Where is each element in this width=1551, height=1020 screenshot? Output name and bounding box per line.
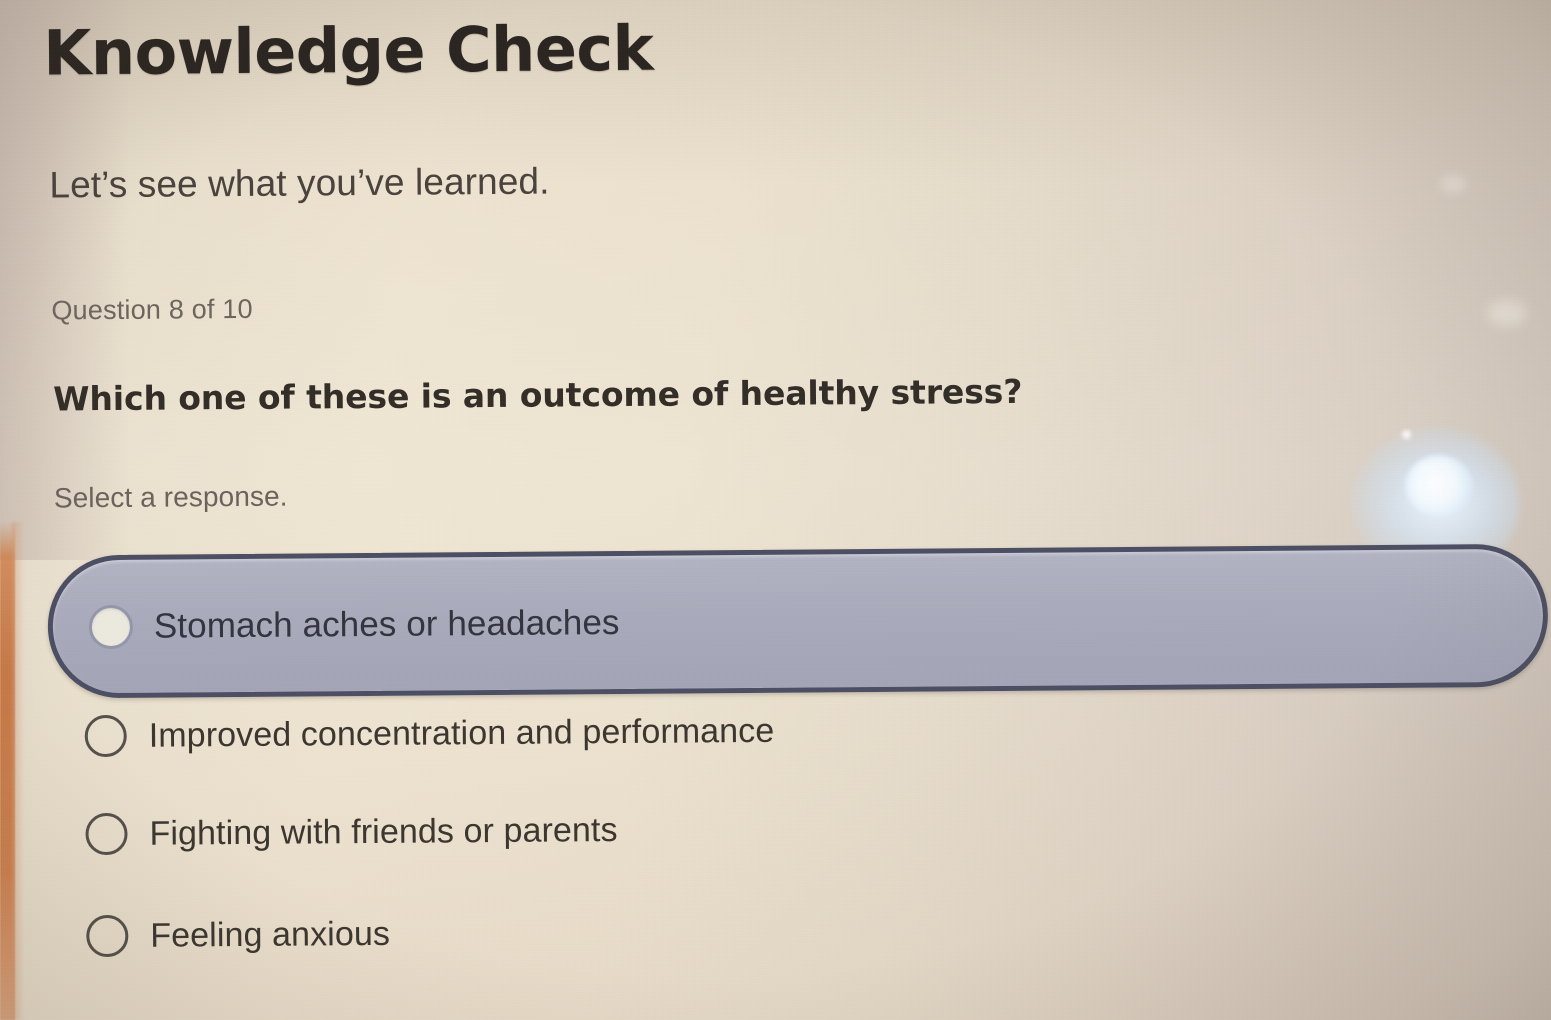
question-text: Which one of these is an outcome of heal… <box>53 372 1023 419</box>
quiz-screen-content: Knowledge Check Let’s see what you’ve le… <box>0 0 1551 1020</box>
radio-button-icon[interactable] <box>85 813 127 855</box>
radio-button-icon[interactable] <box>86 915 128 957</box>
radio-button-icon[interactable] <box>89 604 133 648</box>
answer-option-4[interactable]: Feeling anxious <box>86 904 390 966</box>
question-progress-label: Question 8 of 10 <box>51 294 253 327</box>
answer-option-1[interactable]: Stomach aches or headaches <box>47 544 1548 699</box>
answer-option-label: Fighting with friends or parents <box>149 811 617 854</box>
answer-option-label: Improved concentration and performance <box>149 711 775 755</box>
answer-option-3[interactable]: Fighting with friends or parents <box>85 800 618 864</box>
photo-of-screen: Knowledge Check Let’s see what you’ve le… <box>0 0 1551 1020</box>
answer-option-label: Feeling anxious <box>150 914 390 955</box>
answer-option-2[interactable]: Improved concentration and performance <box>85 701 775 766</box>
answer-option-label: Stomach aches or headaches <box>154 603 620 647</box>
radio-button-icon[interactable] <box>85 715 127 757</box>
page-title: Knowledge Check <box>43 12 653 90</box>
page-subtitle: Let’s see what you’ve learned. <box>49 161 549 207</box>
question-instruction: Select a response. <box>54 481 288 515</box>
